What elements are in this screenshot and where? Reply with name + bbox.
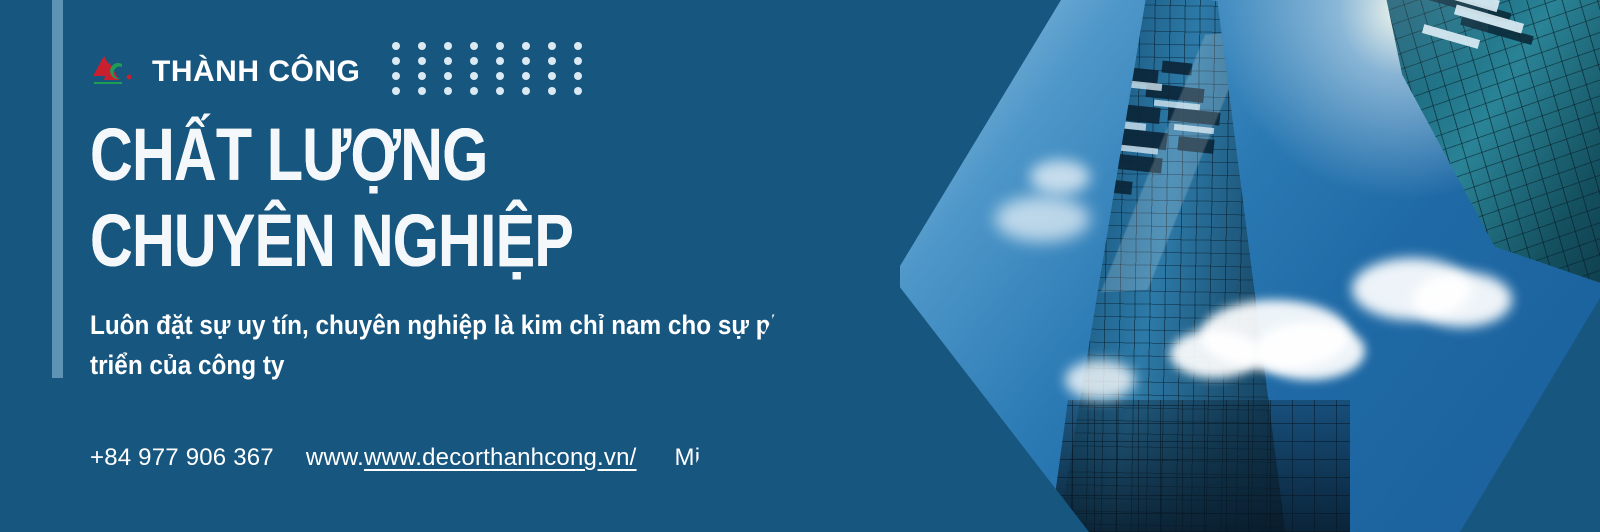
grid-dot — [392, 72, 400, 80]
tower-highlight — [1154, 100, 1200, 111]
cloud-shape — [1065, 360, 1135, 400]
grid-dot — [392, 87, 400, 95]
website-link[interactable]: www.decorthanhcong.vn/ — [364, 444, 637, 471]
grid-dot — [418, 72, 426, 80]
brand-name: THÀNH CÔNG — [152, 55, 360, 89]
grid-dot — [496, 87, 504, 95]
grid-dot — [496, 72, 504, 80]
grid-dot — [574, 42, 582, 50]
headline-line-2: CHUYÊN NGHIỆP — [90, 198, 573, 284]
cloud-shape — [1030, 160, 1090, 194]
contact-website[interactable]: www.www.decorthanhcong.vn/ — [306, 444, 637, 472]
website-prefix: www. — [306, 444, 364, 471]
accent-vertical-rule — [52, 0, 63, 378]
grid-dot — [470, 42, 478, 50]
tower-void — [1177, 136, 1214, 154]
grid-dot — [574, 72, 582, 80]
tower-void — [1161, 60, 1192, 75]
subheadline: Luôn đặt sự uy tín, chuyên nghiệp là kim… — [90, 305, 828, 385]
content-panel: THÀNH CÔNG CHẤT LƯỢNG CHUYÊN NGHIỆP Luôn… — [0, 0, 1010, 532]
cloud-shape — [1255, 322, 1365, 380]
tower-void — [1145, 83, 1204, 103]
cloud-shape — [995, 196, 1090, 242]
grid-dot — [496, 57, 504, 65]
grid-dot — [548, 72, 556, 80]
grid-dot — [470, 72, 478, 80]
grid-dot — [392, 42, 400, 50]
building-photo-artwork — [900, 0, 1600, 532]
thanh-cong-logo-icon — [92, 54, 136, 90]
subheadline-line-1: Luôn đặt sự uy tín, chuyên nghiệp là kim… — [90, 305, 828, 345]
grid-dot — [548, 42, 556, 50]
grid-dot — [522, 57, 530, 65]
tower-podium — [1050, 400, 1350, 532]
subheadline-line-2: triển của công ty — [90, 345, 828, 385]
grid-dot — [418, 42, 426, 50]
headline: CHẤT LƯỢNG CHUYÊN NGHIỆP — [90, 112, 573, 284]
cloud-shape — [1412, 272, 1512, 327]
tower-highlight — [1174, 124, 1214, 134]
grid-dot — [418, 57, 426, 65]
promo-banner: THÀNH CÔNG CHẤT LƯỢNG CHUYÊN NGHIỆP Luôn… — [0, 0, 1600, 532]
grid-dot — [470, 87, 478, 95]
grid-dot — [574, 87, 582, 95]
building-ledge-light — [1422, 24, 1480, 49]
grid-dot — [574, 57, 582, 65]
grid-dot — [522, 87, 530, 95]
building-ledge-light — [1410, 0, 1500, 12]
dot-grid-decoration — [392, 42, 600, 102]
grid-dot — [444, 57, 452, 65]
grid-dot — [496, 42, 504, 50]
grid-dot — [418, 87, 426, 95]
grid-dot — [444, 72, 452, 80]
grid-dot — [548, 87, 556, 95]
grid-dot — [522, 72, 530, 80]
grid-dot — [548, 57, 556, 65]
brand-lockup: THÀNH CÔNG — [92, 42, 600, 102]
grid-dot — [522, 42, 530, 50]
headline-line-1: CHẤT LƯỢNG — [90, 112, 573, 198]
grid-dot — [470, 57, 478, 65]
grid-dot — [444, 87, 452, 95]
grid-dot — [444, 42, 452, 50]
contact-bar: +84 977 906 367 www.www.decorthanhcong.v… — [90, 444, 999, 472]
contact-phone[interactable]: +84 977 906 367 — [90, 444, 274, 472]
grid-dot — [392, 57, 400, 65]
tower-void — [1113, 154, 1162, 174]
tower-void — [1167, 107, 1220, 125]
